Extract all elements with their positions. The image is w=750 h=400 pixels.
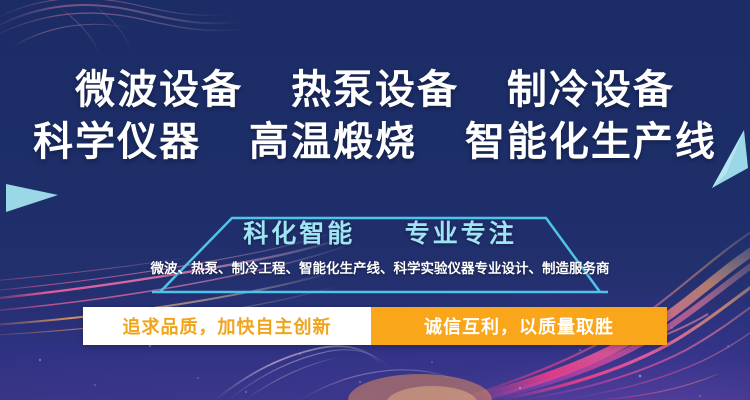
slogan-left: 追求品质，加快自主创新 [83, 307, 371, 345]
tagline: 科化智能 专业专注 [150, 218, 610, 250]
subtitle: 微波、热泵、制冷工程、智能化生产线、科学实验仪器专业设计、制造服务商 [150, 260, 610, 278]
headline-item-4: 科学仪器 [33, 119, 201, 165]
promo-banner: 微波设备 热泵设备 制冷设备 科学仪器 高温煅烧 智能化生产线 科化智能 专业专… [0, 0, 750, 400]
slogan-right: 诚信互利，以质量取胜 [371, 307, 667, 345]
headline-item-6: 智能化生产线 [465, 119, 717, 165]
headline-item-3: 制冷设备 [507, 67, 675, 113]
headline-item-5: 高温煅烧 [249, 119, 417, 165]
tagline-block: 科化智能 专业专注 微波、热泵、制冷工程、智能化生产线、科学实验仪器专业设计、制… [150, 212, 610, 294]
headline-item-2: 热泵设备 [291, 67, 459, 113]
triangle-right-icon [4, 178, 60, 214]
tagline-left: 科化智能 [243, 219, 355, 248]
headline-line-2: 科学仪器 高温煅烧 智能化生产线 [0, 116, 750, 168]
tagline-right: 专业专注 [405, 219, 517, 248]
headline-line-1: 微波设备 热泵设备 制冷设备 [0, 64, 750, 116]
page-title: 微波设备 热泵设备 制冷设备 科学仪器 高温煅烧 智能化生产线 [0, 64, 750, 168]
headline-item-1: 微波设备 [75, 67, 243, 113]
slogan-bar: 追求品质，加快自主创新 诚信互利，以质量取胜 [83, 307, 667, 345]
